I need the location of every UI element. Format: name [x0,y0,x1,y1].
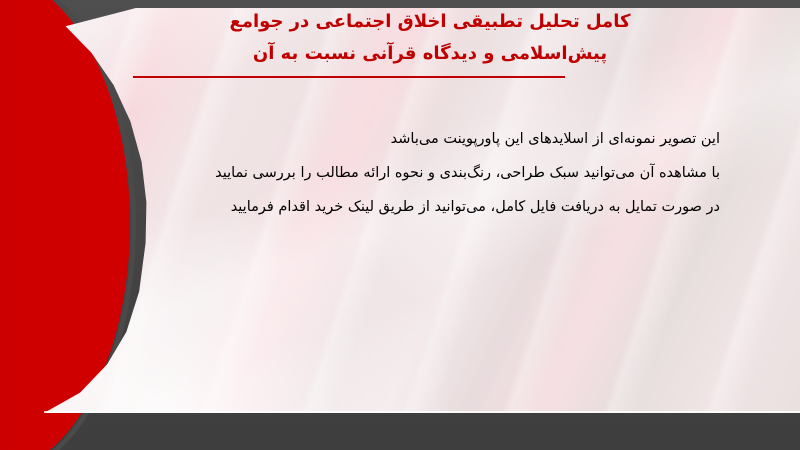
presentation-slide: کامل تحلیل تطبیقی اخلاق اجتماعی در جوامع… [0,0,800,450]
slide-text-layer: کامل تحلیل تطبیقی اخلاق اجتماعی در جوامع… [0,0,800,450]
slide-title-line-1: کامل تحلیل تطبیقی اخلاق اجتماعی در جوامع [60,6,800,38]
body-line-1: این تصویر نمونه‌ای از اسلایدهای این پاور… [80,122,720,156]
slide-title-line-2: پیش‌اسلامی و دیدگاه قرآنی نسبت به آن [60,38,800,70]
slide-body-text: این تصویر نمونه‌ای از اسلایدهای این پاور… [80,122,720,224]
title-underline-rule [133,76,565,78]
body-line-3: در صورت تمایل به دریافت فایل کامل، می‌تو… [80,190,720,224]
slide-title: کامل تحلیل تطبیقی اخلاق اجتماعی در جوامع… [60,6,800,70]
body-line-2: با مشاهده آن می‌توانید سبک طراحی، رنگ‌بن… [80,156,720,190]
